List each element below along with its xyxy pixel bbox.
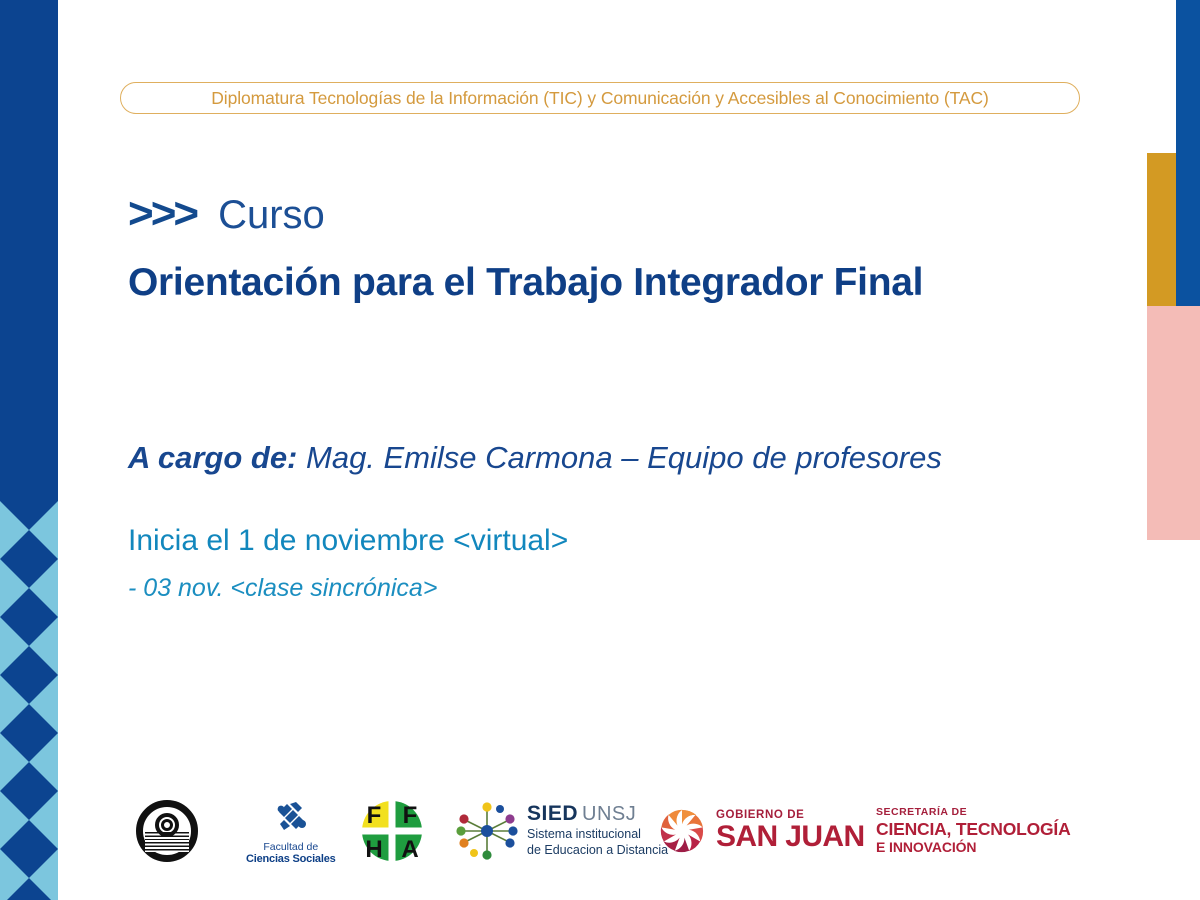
diplomatura-banner-text: Diplomatura Tecnologías de la Informació… [211,88,988,109]
course-label: Curso [218,195,325,235]
facultad-ciencias-sociales-logo: Facultad de Ciencias Sociales [246,785,336,877]
title-block: >>> Curso Orientación para el Trabajo In… [128,192,1088,305]
gobierno-san-juan-logo: GOBIERNO DE SAN JUAN [656,785,865,877]
secretaria-ciencia-logo: SECRETARÍA DE CIENCIA, TECNOLOGÍA E INNO… [876,785,1071,877]
facultad-line-2: Ciencias Sociales [246,853,336,865]
ffha-icon: F F H A [358,797,426,865]
san-juan-sun-icon [656,805,708,857]
chevrons-icon: >>> [128,192,196,236]
right-blue-block [1176,0,1200,306]
sied-network-icon [453,798,521,864]
left-rail-solid-block [0,0,58,501]
diamond-shape [0,820,58,878]
svg-text:A: A [401,836,418,863]
right-pink-block [1147,306,1200,540]
sied-acronym: SIED [527,802,578,825]
svg-text:F: F [367,802,382,829]
facultad-line-1: Facultad de [263,841,318,853]
unsj-seal-icon [136,800,198,862]
diamond-shape [0,878,58,900]
course-eyebrow: >>> Curso [128,192,1088,236]
svg-text:F: F [403,802,418,829]
left-rail-diamond-pattern [0,501,58,900]
diamond-shape [0,501,58,530]
right-gold-block [1147,153,1176,306]
logo-bar: Facultad de Ciencias Sociales F F [128,785,1088,877]
sied-subtitle-line-2: de Educacion a Distancia [527,843,668,859]
diamond-shape [0,530,58,588]
sied-text-group: SIEDUNSJ Sistema institucional de Educac… [527,803,668,858]
presenter-line: A cargo de: Mag. Emilse Carmona – Equipo… [128,440,942,476]
presenter-label: A cargo de: [128,440,297,475]
seal-dot [161,819,173,831]
diamond-shape [0,704,58,762]
presenter-name: Mag. Emilse Carmona – Equipo de profesor… [297,440,941,475]
page-title: Orientación para el Trabajo Integrador F… [128,262,1088,305]
unsj-seal-logo [136,785,198,877]
sied-subtitle: Sistema institucional de Educacion a Dis… [527,827,668,858]
innovacion-label: E INNOVACIÓN [876,839,976,856]
presentation-slide: Diplomatura Tecnologías de la Informació… [0,0,1200,900]
facultad-mark-icon [271,798,311,838]
diplomatura-banner: Diplomatura Tecnologías de la Informació… [120,82,1080,114]
left-decorative-rail [0,0,58,900]
san-juan-label: SAN JUAN [716,821,865,853]
svg-text:H: H [365,836,382,863]
sied-unsj-acronym: UNSJ [582,803,636,825]
synchronous-class-line: - 03 nov. <clase sincrónica> [128,574,437,603]
san-juan-text-group: GOBIERNO DE SAN JUAN [716,810,865,853]
diamond-shape [0,588,58,646]
start-date-line: Inicia el 1 de noviembre <virtual> [128,524,568,558]
ciencia-tecnologia-label: CIENCIA, TECNOLOGÍA [876,819,1071,839]
sied-subtitle-line-1: Sistema institucional [527,827,668,843]
ffha-logo: F F H A [358,785,426,877]
secretaria-label: SECRETARÍA DE [876,806,967,819]
diamond-shape [0,762,58,820]
sied-title: SIEDUNSJ [527,803,668,824]
diamond-shape [0,646,58,704]
sied-unsj-logo: SIEDUNSJ Sistema institucional de Educac… [453,785,668,877]
